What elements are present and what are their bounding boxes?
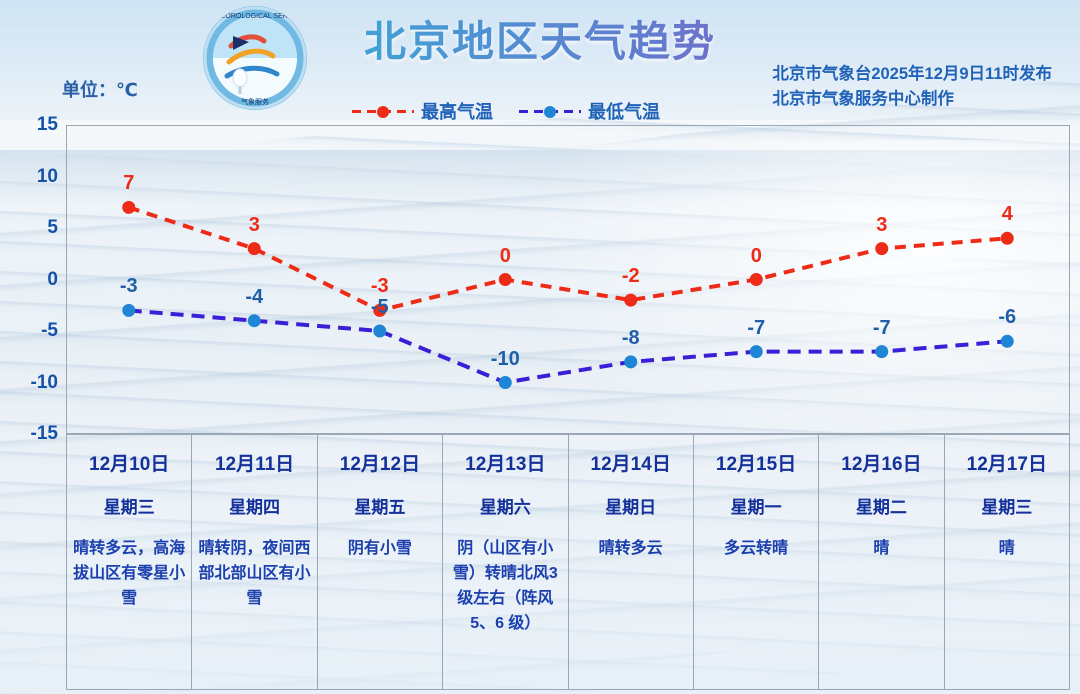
data-point-label: 3 bbox=[249, 214, 260, 237]
data-point-marker bbox=[750, 345, 763, 358]
data-point-label: 3 bbox=[876, 214, 887, 237]
data-point-label: -2 bbox=[622, 265, 640, 288]
forecast-description: 阴（山区有小雪）转晴北风3级左右（阵风 5、6 级） bbox=[449, 536, 561, 636]
forecast-column: 12月13日星期六阴（山区有小雪）转晴北风3级左右（阵风 5、6 级） bbox=[443, 435, 568, 690]
data-point-label: -4 bbox=[245, 286, 263, 309]
forecast-description: 晴转阴，夜间西部北部山区有小雪 bbox=[198, 536, 310, 611]
data-point-marker bbox=[248, 242, 261, 255]
forecast-table: 12月10日星期三晴转多云，高海拔山区有零星小雪12月11日星期四晴转阴，夜间西… bbox=[66, 434, 1070, 690]
forecast-column: 12月17日星期三晴 bbox=[945, 435, 1070, 690]
forecast-column: 12月14日星期日晴转多云 bbox=[569, 435, 694, 690]
data-point-label: 4 bbox=[1002, 203, 1013, 226]
data-point-marker bbox=[499, 273, 512, 286]
data-point-label: -5 bbox=[371, 296, 389, 319]
forecast-column: 12月15日星期一多云转晴 bbox=[694, 435, 819, 690]
forecast-date: 12月17日 bbox=[951, 449, 1063, 476]
data-point-label: 7 bbox=[123, 172, 134, 195]
data-point-marker bbox=[122, 304, 135, 317]
forecast-weekday: 星期日 bbox=[575, 493, 687, 518]
data-point-marker bbox=[875, 345, 888, 358]
forecast-date: 12月11日 bbox=[198, 449, 310, 476]
forecast-weekday: 星期一 bbox=[700, 493, 812, 518]
forecast-date: 12月12日 bbox=[324, 449, 436, 476]
data-point-marker bbox=[499, 376, 512, 389]
data-point-marker bbox=[248, 314, 261, 327]
forecast-weekday: 星期六 bbox=[449, 493, 561, 518]
forecast-weekday: 星期三 bbox=[73, 493, 185, 518]
data-point-label: -6 bbox=[998, 306, 1016, 329]
data-point-label: -7 bbox=[873, 317, 891, 340]
data-point-label: -3 bbox=[120, 275, 138, 298]
forecast-description: 晴转多云，高海拔山区有零星小雪 bbox=[73, 536, 185, 611]
forecast-weekday: 星期五 bbox=[324, 493, 436, 518]
data-point-label: -7 bbox=[747, 317, 765, 340]
forecast-date: 12月14日 bbox=[575, 449, 687, 476]
forecast-column: 12月10日星期三晴转多云，高海拔山区有零星小雪 bbox=[67, 435, 192, 690]
data-point-marker bbox=[122, 201, 135, 214]
data-point-marker bbox=[373, 325, 386, 338]
forecast-column: 12月12日星期五阴有小雪 bbox=[318, 435, 443, 690]
forecast-date: 12月13日 bbox=[449, 449, 561, 476]
forecast-weekday: 星期三 bbox=[951, 493, 1063, 518]
weather-trend-infographic: METEOROLOGICAL SERVICE 气象服务 北京地区天气趋势 北京市… bbox=[0, 0, 1080, 694]
forecast-weekday: 星期四 bbox=[198, 493, 310, 518]
data-point-label: 0 bbox=[751, 245, 762, 268]
data-point-label: -8 bbox=[622, 327, 640, 350]
data-point-marker bbox=[1001, 232, 1014, 245]
data-point-label: 0 bbox=[500, 245, 511, 268]
data-point-marker bbox=[624, 294, 637, 307]
data-point-marker bbox=[624, 355, 637, 368]
data-point-label: -3 bbox=[371, 275, 389, 298]
forecast-column: 12月16日星期二晴 bbox=[819, 435, 944, 690]
forecast-description: 多云转晴 bbox=[700, 536, 812, 561]
forecast-column: 12月11日星期四晴转阴，夜间西部北部山区有小雪 bbox=[192, 435, 317, 690]
forecast-date: 12月15日 bbox=[700, 449, 812, 476]
forecast-weekday: 星期二 bbox=[825, 493, 937, 518]
data-point-marker bbox=[750, 273, 763, 286]
data-point-marker bbox=[875, 242, 888, 255]
forecast-description: 晴 bbox=[951, 536, 1063, 561]
data-point-label: -10 bbox=[491, 348, 520, 371]
forecast-date: 12月10日 bbox=[73, 449, 185, 476]
forecast-description: 晴转多云 bbox=[575, 536, 687, 561]
forecast-description: 晴 bbox=[825, 536, 937, 561]
data-point-marker bbox=[1001, 335, 1014, 348]
forecast-date: 12月16日 bbox=[825, 449, 937, 476]
forecast-description: 阴有小雪 bbox=[324, 536, 436, 561]
